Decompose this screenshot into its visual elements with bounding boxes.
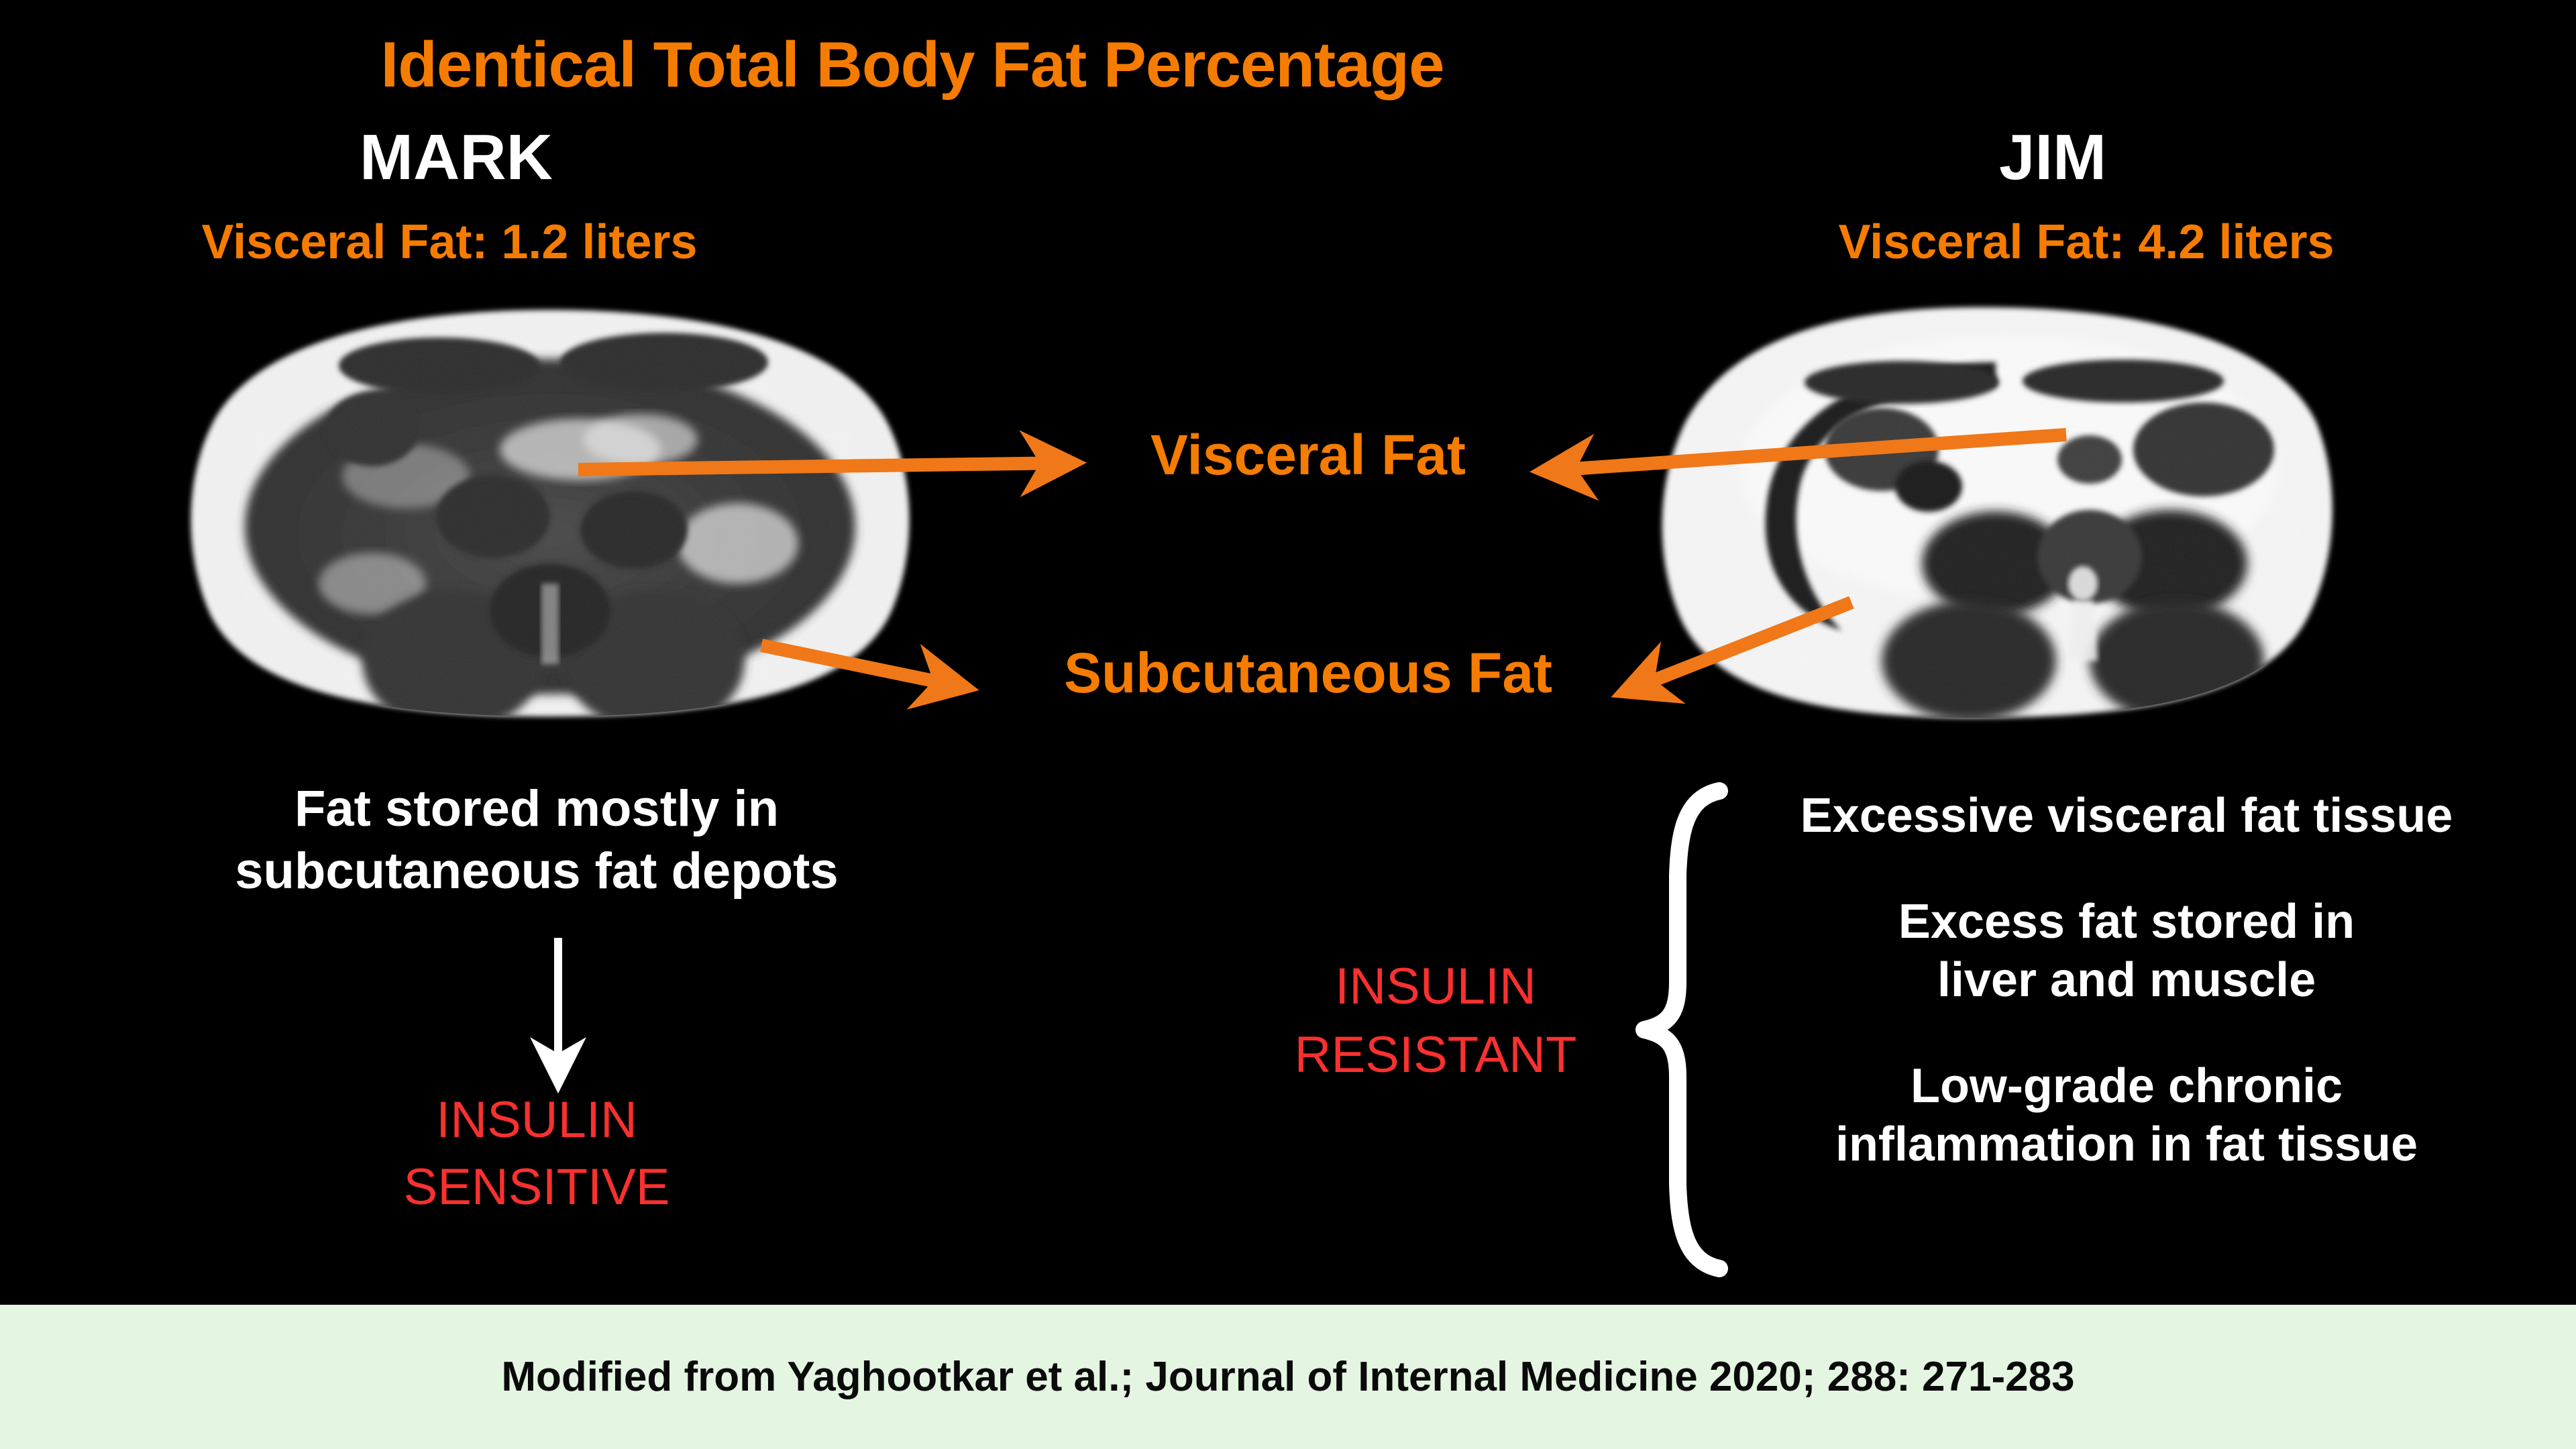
footer-bar: Modified from Yaghootkar et al.; Journal… xyxy=(0,1305,2576,1449)
right-verdict-line-2: RESISTANT xyxy=(1228,1021,1644,1089)
mri-scan-right-image xyxy=(1580,295,2338,724)
label-subcutaneous-fat: Subcutaneous Fat xyxy=(926,641,1690,706)
subject-name-right: JIM xyxy=(1851,121,2254,195)
label-visceral-fat: Visceral Fat xyxy=(953,423,1664,488)
list-item: Excess fat stored inliver and muscle xyxy=(1690,893,2563,1009)
right-verdict-line-1: INSULIN xyxy=(1228,953,1644,1021)
visceral-fat-value-right: Visceral Fat: 4.2 liters xyxy=(1764,215,2408,270)
left-verdict-line-2: SENSITIVE xyxy=(201,1154,872,1221)
visceral-fat-value-left: Visceral Fat: 1.2 liters xyxy=(127,215,771,270)
mri-scan-left xyxy=(171,295,929,724)
mri-scan-left-image xyxy=(171,295,929,724)
left-verdict-line-1: INSULIN xyxy=(201,1087,872,1154)
subject-name-left: MARK xyxy=(255,121,657,195)
list-item: Low-grade chronicinflammation in fat tis… xyxy=(1690,1057,2563,1173)
left-description: Fat stored mostly in subcutaneous fat de… xyxy=(121,778,953,902)
list-item: Excessive visceral fat tissue xyxy=(1690,787,2563,845)
citation-text: Modified from Yaghootkar et al.; Journal… xyxy=(501,1353,2074,1401)
left-verdict: INSULIN SENSITIVE xyxy=(201,1087,872,1222)
mri-scan-right xyxy=(1580,295,2338,724)
right-verdict: INSULIN RESISTANT xyxy=(1228,953,1644,1089)
right-consequence-list: Excessive visceral fat tissue Excess fat… xyxy=(1690,782,2563,1173)
page-title: Identical Total Body Fat Percentage xyxy=(0,28,1825,102)
infographic-slide: Identical Total Body Fat Percentage MARK… xyxy=(0,0,2576,1449)
